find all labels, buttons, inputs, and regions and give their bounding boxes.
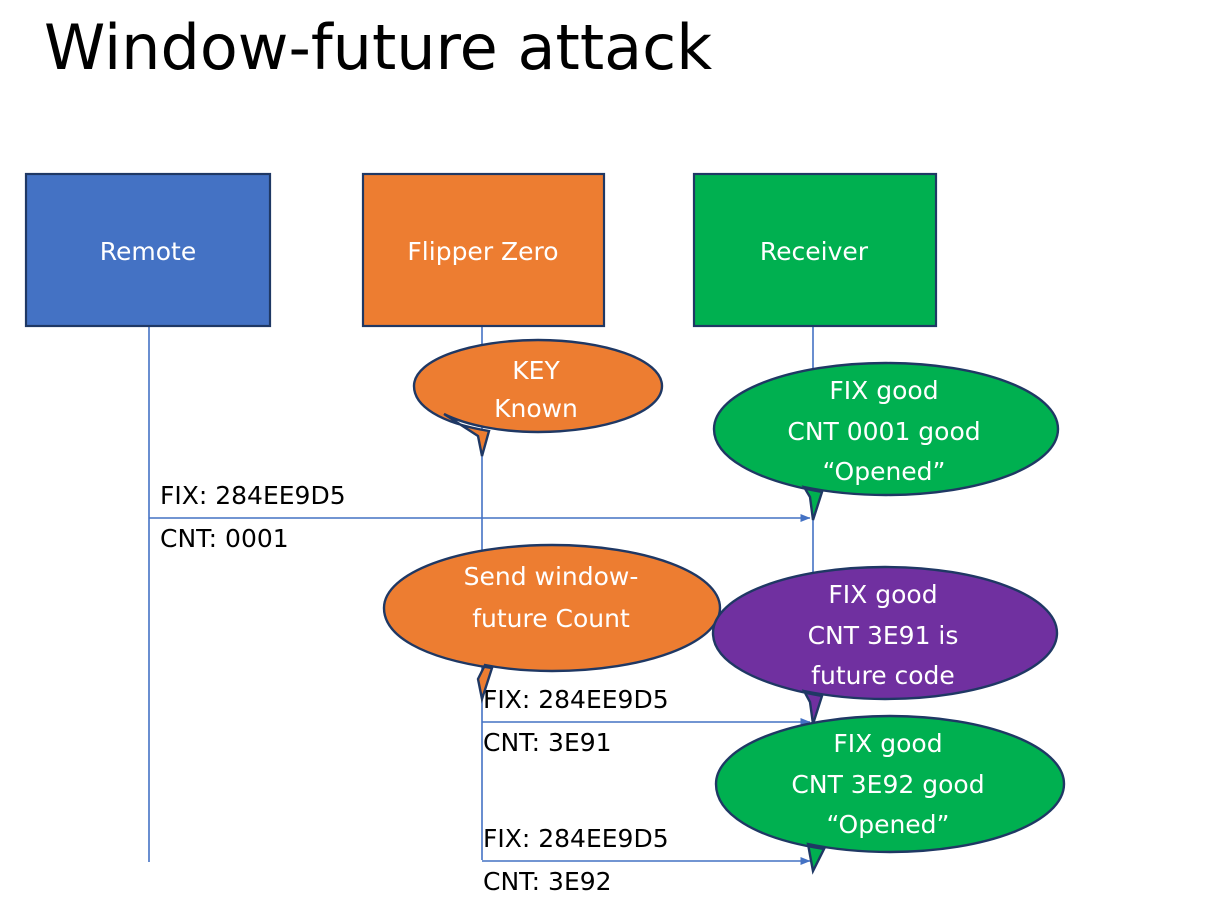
message-label-line2: CNT: 3E92 — [483, 867, 612, 896]
actor-label-remote: Remote — [100, 237, 196, 266]
message-label-line2: CNT: 0001 — [160, 524, 289, 553]
slide-canvas: Window-future attack FIX: 284EE9D5 CNT: … — [0, 0, 1216, 898]
callout-line-1: FIX good — [833, 729, 942, 758]
message-label-line2: CNT: 3E91 — [483, 728, 612, 757]
actor-label-receiver: Receiver — [760, 237, 869, 266]
callout-line-1: FIX good — [828, 580, 937, 609]
callout-line-1: KEY — [512, 356, 560, 385]
callout-send-window-future-count[interactable]: Send window- future Count — [384, 545, 720, 699]
callout-line-1: Send window- — [464, 562, 639, 591]
message-label-line1: FIX: 284EE9D5 — [483, 824, 669, 853]
actor-label-flipper-zero: Flipper Zero — [407, 237, 558, 266]
callout-line-2: future Count — [472, 604, 630, 633]
callout-line-2: CNT 3E91 is — [808, 621, 959, 650]
callout-line-2: CNT 3E92 good — [791, 770, 984, 799]
callout-fix-good-3e91-future[interactable]: FIX good CNT 3E91 is future code — [713, 567, 1057, 724]
actor-box-remote[interactable]: Remote — [26, 174, 270, 326]
callout-key-known[interactable]: KEY Known — [414, 340, 662, 456]
callout-line-3: “Opened” — [826, 810, 949, 839]
callout-fix-good-0001[interactable]: FIX good CNT 0001 good “Opened” — [714, 363, 1058, 520]
callout-line-1: FIX good — [829, 376, 938, 405]
callout-fix-good-3e92[interactable]: FIX good CNT 3E92 good “Opened” — [716, 716, 1064, 871]
callout-line-3: “Opened” — [822, 457, 945, 486]
callout-line-2: CNT 0001 good — [787, 417, 980, 446]
message-label-line1: FIX: 284EE9D5 — [160, 481, 346, 510]
message-label-line1: FIX: 284EE9D5 — [483, 685, 669, 714]
actor-box-receiver[interactable]: Receiver — [694, 174, 936, 326]
sequence-diagram: FIX: 284EE9D5 CNT: 0001 FIX: 284EE9D5 CN… — [0, 0, 1216, 898]
callout-line-2: Known — [494, 394, 578, 423]
actor-box-flipper-zero[interactable]: Flipper Zero — [363, 174, 604, 326]
callout-line-3: future code — [811, 661, 955, 690]
